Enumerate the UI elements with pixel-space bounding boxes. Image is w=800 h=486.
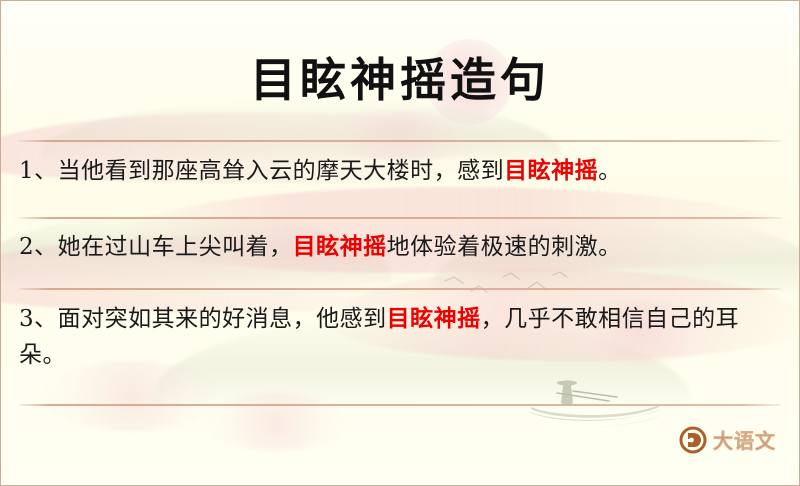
- page-title: 目眩神摇造句: [1, 53, 799, 107]
- brand-logo: 大语文: [679, 425, 776, 454]
- list-item: 3、面对突如其来的好消息，他感到目眩神摇，几乎不敢相信自己的耳朵。: [19, 301, 775, 373]
- idiom-highlight: 目眩神摇: [504, 157, 598, 184]
- idiom-highlight: 目眩神摇: [293, 233, 387, 260]
- flying-birds-illustration: [441, 269, 571, 303]
- list-item: 2、她在过山车上尖叫着，目眩神摇地体验着极速的刺激。: [19, 229, 775, 265]
- sentence-text-before: 面对突如其来的好消息，他感到: [58, 306, 387, 332]
- list-item: 1、当他看到那座高耸入云的摩天大楼时，感到目眩神摇。: [19, 153, 775, 189]
- sentence-text-before: 当他看到那座高耸入云的摩天大楼时，感到: [58, 158, 505, 184]
- divider-footer: [19, 404, 781, 406]
- sentence-text-after: 。: [598, 158, 622, 184]
- divider-1: [19, 217, 781, 219]
- petal-blob-2: [201, 393, 351, 451]
- idiom-highlight: 目眩神摇: [387, 305, 481, 332]
- sentence-text-after: 地体验着极速的刺激。: [387, 234, 622, 260]
- divider-title: [19, 140, 781, 142]
- sentence-index: 1、: [19, 158, 58, 184]
- brand-logo-text: 大语文: [713, 425, 776, 454]
- sentence-index: 3、: [19, 306, 58, 332]
- circular-swirl-logo-icon: [679, 426, 707, 454]
- sentence-index: 2、: [19, 234, 58, 260]
- divider-2: [19, 288, 781, 290]
- slide-canvas: 目眩神摇造句 1、当他看到那座高耸入云的摩天大楼时，感到目眩神摇。 2、她在过山…: [0, 0, 800, 486]
- sentence-text-before: 她在过山车上尖叫着，: [58, 234, 293, 260]
- fisherman-boat-illustration: [521, 371, 671, 443]
